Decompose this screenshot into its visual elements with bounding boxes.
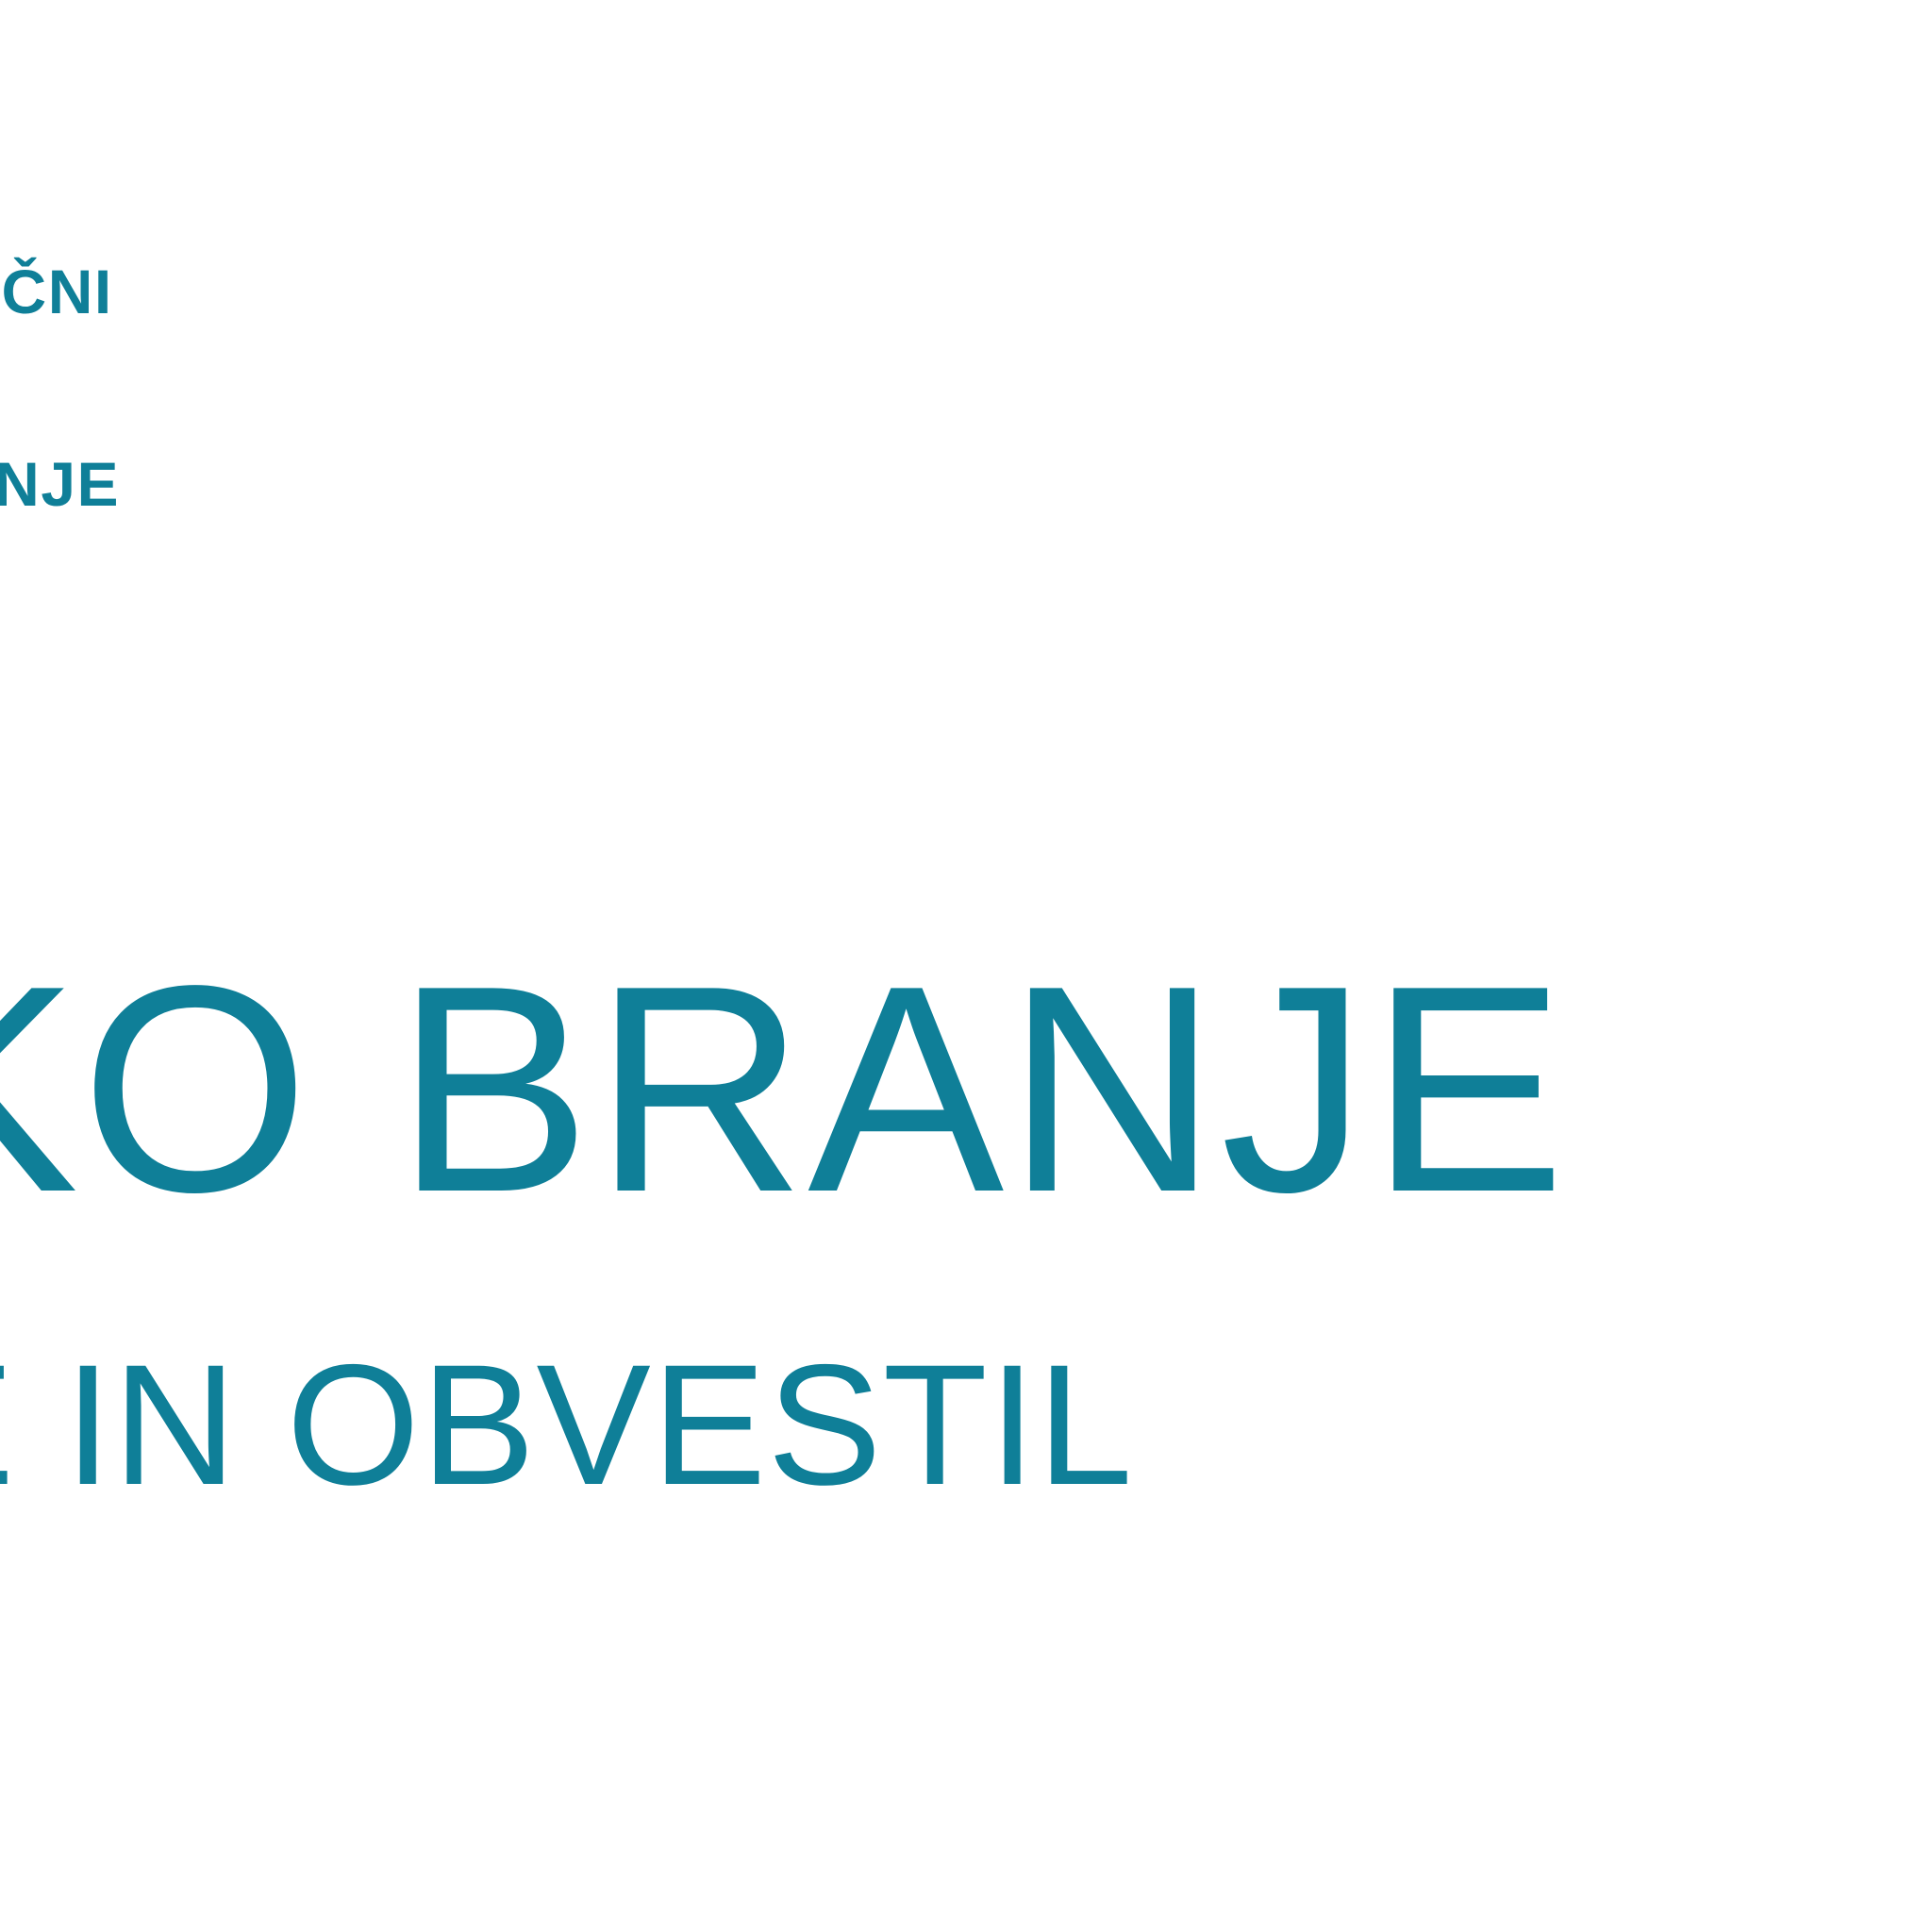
- organisation-lockup-line-1: PETENČNI: [0, 243, 636, 340]
- banner-canvas: PETENČNI ER ZA O BRANJE HKO BRANJE ICE I…: [0, 0, 1932, 1932]
- organisation-lockup-line-3: O BRANJE: [0, 436, 636, 532]
- organisation-lockup: PETENČNI ER ZA O BRANJE: [0, 243, 636, 532]
- headline-lahko-branje: HKO BRANJE: [0, 929, 1568, 1250]
- subheadline-novice-in-obvestila: ICE IN OBVESTIL: [0, 1324, 1134, 1524]
- organisation-lockup-line-2: ER ZA: [0, 340, 636, 436]
